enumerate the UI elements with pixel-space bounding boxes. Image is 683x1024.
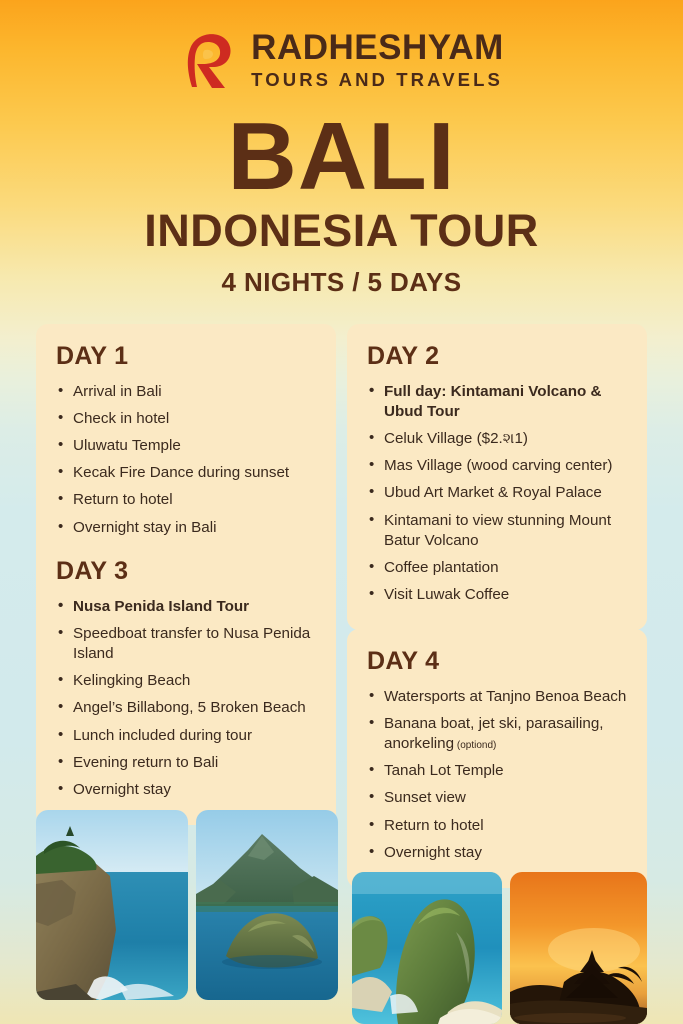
photo-kelingking-beach (352, 872, 502, 1024)
day-item-list: Watersports at Tanjno Benoa BeachBanana … (367, 687, 627, 862)
day-item: Kelingking Beach (56, 671, 316, 691)
day-item: Overnight stay (367, 843, 627, 863)
day-item: Coffee plantation (367, 558, 627, 578)
day-item: Tanah Lot Temple (367, 761, 627, 781)
day-item-list: Arrival in BaliCheck in hotelUluwatu Tem… (56, 382, 316, 537)
photo-tanah-lot-sunset (510, 872, 647, 1024)
hero-title-block: BALI INDONESIA TOUR 4 NIGHTS / 5 DAYS (0, 112, 683, 298)
day-item: Angel’s Billabong, 5 Broken Beach (56, 698, 316, 718)
day-item: Sunset view (367, 788, 627, 808)
day-item: Return to hotel (56, 490, 316, 510)
day-item: Overnight stay in Bali (56, 518, 316, 538)
brand-name: RADHESHYAM (251, 30, 504, 65)
day-item: Speedboat transfer to Nusa Penida Island (56, 624, 316, 664)
day-item-list: Nusa Penida Island TourSpeedboat transfe… (56, 597, 316, 800)
day-item: Visit Luwak Coffee (367, 585, 627, 605)
photo-mount-batur (196, 810, 338, 1000)
day-item: Full day: Kintamani Volcano & Ubud Tour (367, 382, 627, 422)
brand-tagline: TOURS AND TRAVELS (251, 71, 504, 90)
day-item: Arrival in Bali (56, 382, 316, 402)
itinerary-card-day1: DAY 1 Arrival in BaliCheck in hotelUluwa… (36, 324, 336, 562)
day-item-list: Full day: Kintamani Volcano & Ubud TourC… (367, 382, 627, 605)
day-title: DAY 1 (56, 342, 316, 371)
tour-duration: 4 NIGHTS / 5 DAYS (0, 267, 683, 298)
day-item: Nusa Penida Island Tour (56, 597, 316, 617)
itinerary-card-day4: DAY 4 Watersports at Tanjno Benoa BeachB… (347, 629, 647, 887)
day-item: Evening return to Bali (56, 753, 316, 773)
day-title: DAY 2 (367, 342, 627, 371)
photo-uluwatu-cliff (36, 810, 188, 1000)
day-item: Banana boat, jet ski, parasailing, anork… (367, 714, 627, 754)
itinerary-card-day2: DAY 2 Full day: Kintamani Volcano & Ubud… (347, 324, 647, 630)
day-item: Overnight stay (56, 780, 316, 800)
day-item: Return to hotel (367, 816, 627, 836)
page-subtitle: INDONESIA TOUR (0, 208, 683, 253)
day-item: Ubud Art Market & Royal Palace (367, 483, 627, 503)
day-item: Kecak Fire Dance during sunset (56, 463, 316, 483)
day-item: Celuk Village ($2.શ1) (367, 429, 627, 449)
day-item: Watersports at Tanjno Benoa Beach (367, 687, 627, 707)
brand-header: RADHESHYAM TOURS AND TRAVELS (0, 0, 683, 90)
day-title: DAY 3 (56, 557, 316, 586)
page-title: BALI (0, 112, 683, 202)
day-item: Lunch included during tour (56, 726, 316, 746)
day-item: Mas Village (wood carving center) (367, 456, 627, 476)
day-item: Kintamani to view stunning Mount Batur V… (367, 511, 627, 551)
day-item: Check in hotel (56, 409, 316, 429)
brand-wordmark: RADHESHYAM TOURS AND TRAVELS (251, 30, 504, 90)
itinerary-grid: DAY 1 Arrival in BaliCheck in hotelUluwa… (36, 324, 647, 824)
day-item: Uluwatu Temple (56, 436, 316, 456)
itinerary-card-day3: DAY 3 Nusa Penida Island TourSpeedboat t… (36, 539, 336, 825)
radheshyam-r-logo-icon (179, 30, 237, 90)
day-title: DAY 4 (367, 647, 627, 676)
day-item-note: (optiond) (454, 740, 496, 751)
